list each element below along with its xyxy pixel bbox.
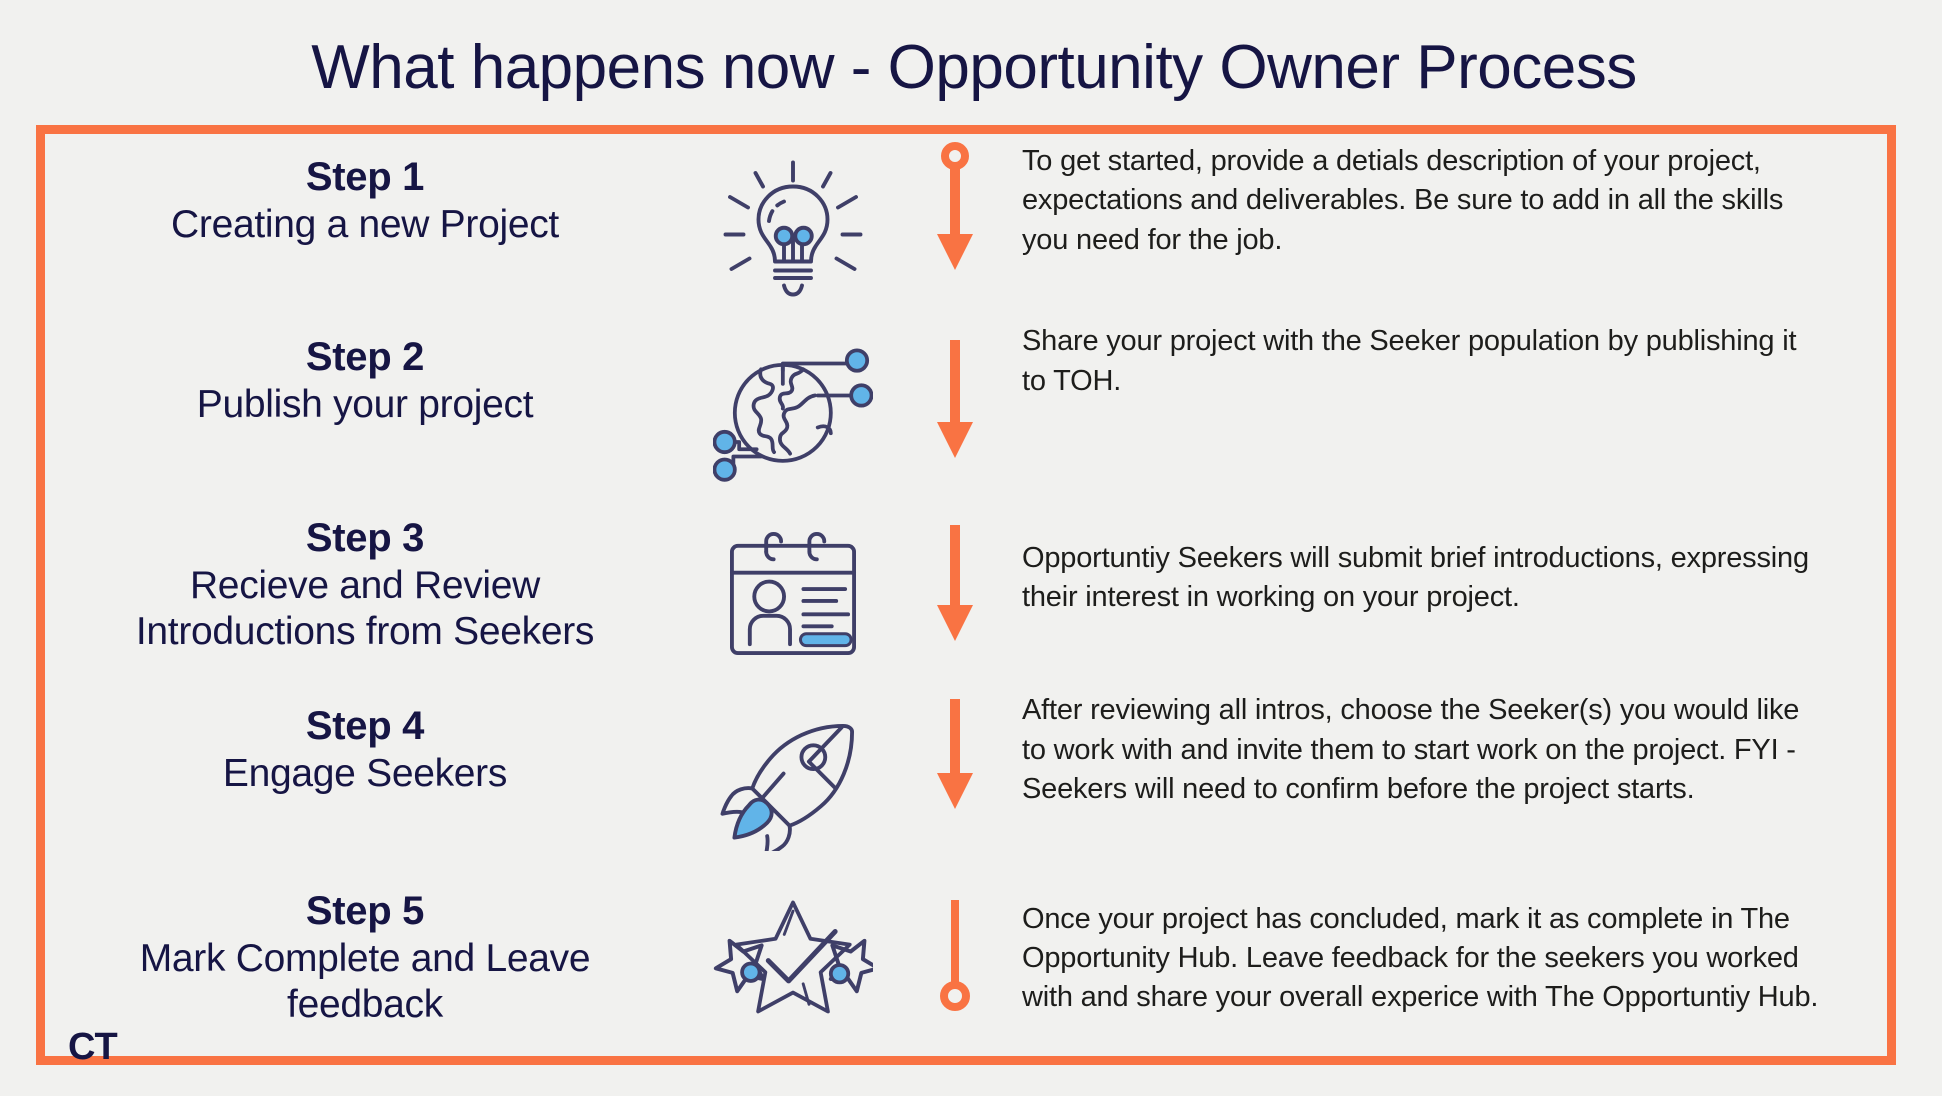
step-number: Step 5 xyxy=(45,886,685,936)
step-label-group: Step 5 Mark Complete and Leave feedback xyxy=(45,876,685,1056)
step-row: Step 1 Creating a new Project xyxy=(45,142,1887,322)
presentation-slide: What happens now - Opportunity Owner Pro… xyxy=(0,0,1948,1096)
process-steps-list: Step 1 Creating a new Project xyxy=(45,134,1887,1056)
step-description-cell: After reviewing all intros, choose the S… xyxy=(1010,691,1887,875)
step-icon-cell xyxy=(685,503,900,691)
step-description: Share your project with the Seeker popul… xyxy=(1022,322,1827,401)
step-row: Step 3 Recieve and Review Introductions … xyxy=(45,503,1887,691)
step-description: Opportuntiy Seekers will submit brief in… xyxy=(1022,503,1827,618)
step-description-cell: Once your project has concluded, mark it… xyxy=(1010,876,1887,1056)
step-description-cell: Share your project with the Seeker popul… xyxy=(1010,322,1887,502)
step-description: To get started, provide a detials descri… xyxy=(1022,142,1827,260)
step-icon-cell xyxy=(685,876,900,1056)
step-row: Step 4 Engage Seekers xyxy=(45,691,1887,875)
step-number: Step 1 xyxy=(45,152,685,202)
line-circle-end-icon xyxy=(932,876,978,1030)
step-connector-cell xyxy=(900,322,1010,502)
step-icon-cell xyxy=(685,322,900,502)
step-number: Step 2 xyxy=(45,332,685,382)
step-description-cell: Opportuntiy Seekers will submit brief in… xyxy=(1010,503,1887,691)
step-number: Step 4 xyxy=(45,701,685,751)
step-name: Creating a new Project xyxy=(45,202,685,248)
step-name: Recieve and Review Introductions from Se… xyxy=(45,563,685,655)
step-row: Step 2 Publish your project xyxy=(45,322,1887,502)
step-name: Publish your project xyxy=(45,382,685,428)
rocket-icon xyxy=(715,711,870,856)
step-connector-cell xyxy=(900,691,1010,875)
step-connector-cell xyxy=(900,876,1010,1056)
step-description: Once your project has concluded, mark it… xyxy=(1022,876,1827,1018)
step-label-group: Step 2 Publish your project xyxy=(45,322,685,502)
page-title: What happens now - Opportunity Owner Pro… xyxy=(0,32,1948,103)
arrow-circle-start-down-icon xyxy=(932,142,978,272)
step-number: Step 3 xyxy=(45,513,685,563)
lightbulb-icon xyxy=(718,155,868,310)
arrow-down-icon xyxy=(932,691,978,829)
arrow-down-icon xyxy=(932,322,978,470)
id-card-icon xyxy=(718,525,868,670)
stars-checkmark-icon xyxy=(713,896,873,1036)
globe-network-icon xyxy=(713,335,873,490)
step-row: Step 5 Mark Complete and Leave feedback xyxy=(45,876,1887,1056)
step-name: Engage Seekers xyxy=(45,751,685,797)
arrow-down-icon xyxy=(932,503,978,655)
step-label-group: Step 1 Creating a new Project xyxy=(45,142,685,322)
step-icon-cell xyxy=(685,142,900,322)
step-connector-cell xyxy=(900,142,1010,322)
step-name: Mark Complete and Leave feedback xyxy=(45,936,685,1028)
step-label-group: Step 4 Engage Seekers xyxy=(45,691,685,875)
step-connector-cell xyxy=(900,503,1010,691)
step-icon-cell xyxy=(685,691,900,875)
step-description-cell: To get started, provide a detials descri… xyxy=(1010,142,1887,322)
ct-logo: CT xyxy=(68,1028,117,1066)
step-label-group: Step 3 Recieve and Review Introductions … xyxy=(45,503,685,691)
step-description: After reviewing all intros, choose the S… xyxy=(1022,691,1827,809)
